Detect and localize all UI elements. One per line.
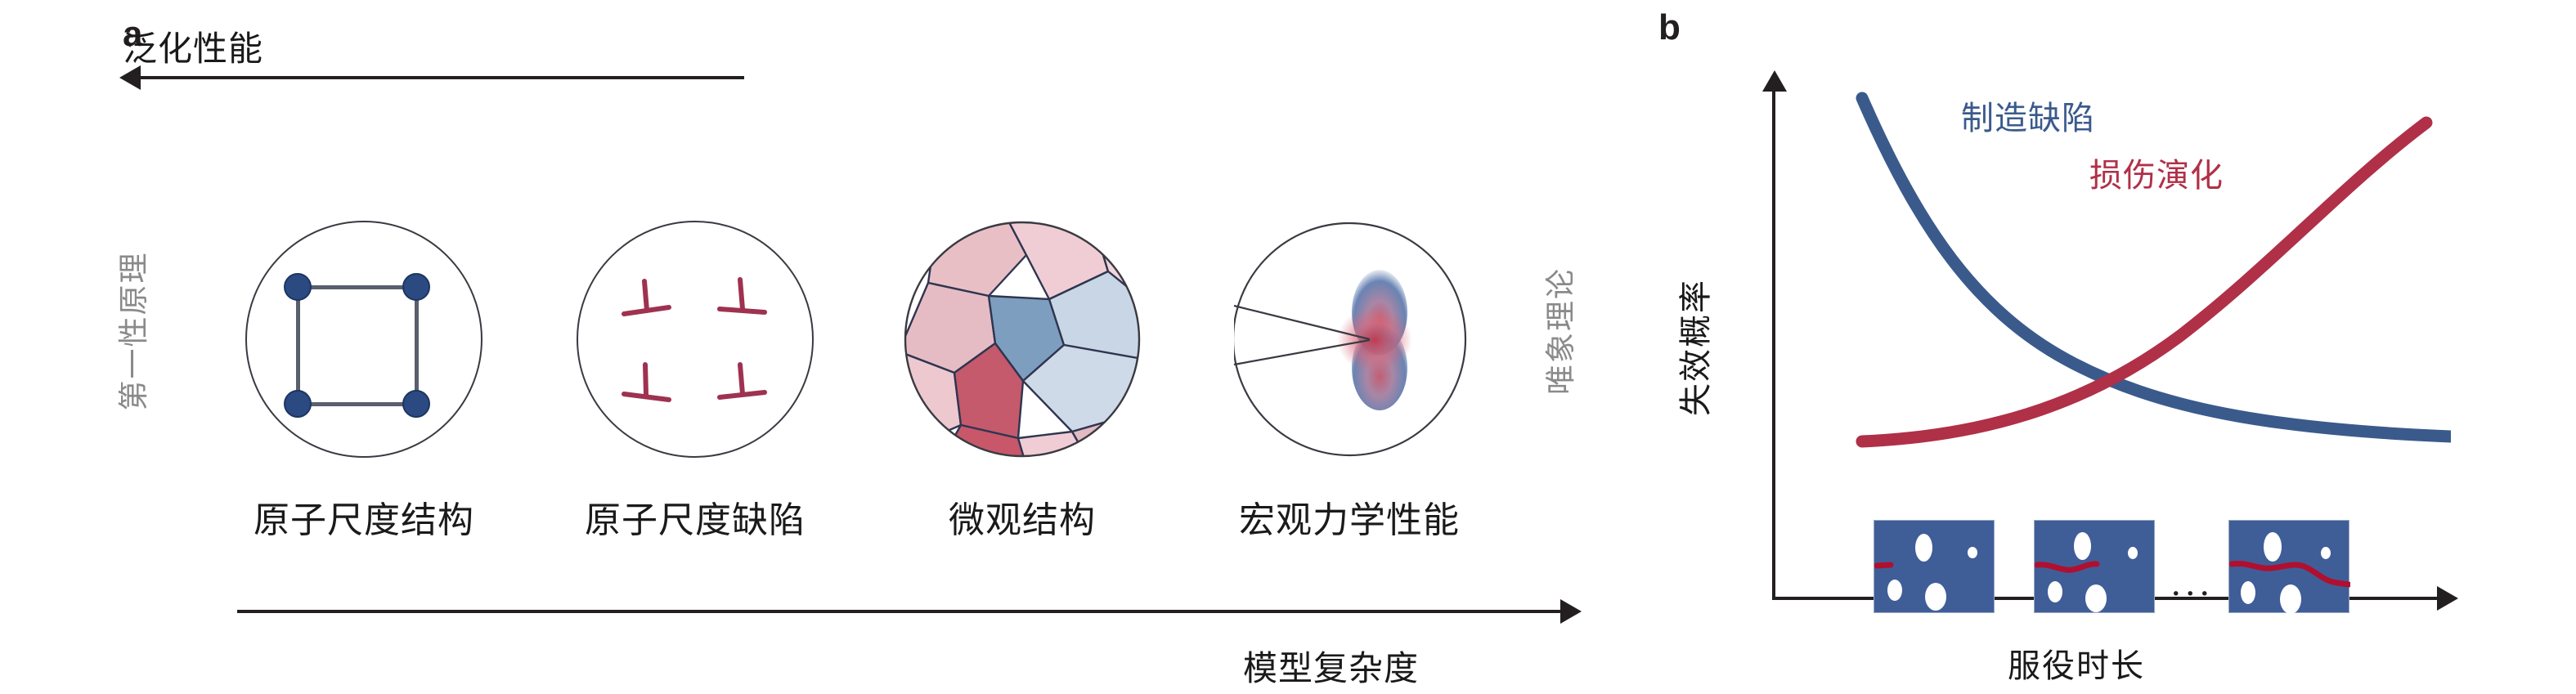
arrow-head-left-icon [119, 65, 141, 90]
late-damage-inset [2228, 520, 2349, 613]
phenomenological-theory-label: 唯象理论 [1536, 196, 1580, 466]
inset-ellipsis: ... [2171, 564, 2215, 602]
crack-path [2229, 521, 2350, 614]
panel-b-letter: b [1658, 10, 1681, 46]
grain-microstructure-icon [904, 221, 1141, 458]
panel-a: a 泛化性能 第一性原理 唯象理论 [0, 0, 1636, 694]
stage-2-dislocations [577, 221, 814, 458]
bond-bottom [296, 402, 419, 406]
stage-4-macro-mechanics [1231, 221, 1468, 458]
y-axis-label: 失效概率 [1669, 249, 1717, 446]
atom-node-br [402, 390, 430, 418]
generalization-arrow-shaft [139, 76, 744, 79]
atom-node-bl [284, 390, 312, 418]
dislocation-symbol-icon [717, 276, 768, 324]
bond-top [296, 285, 419, 289]
x-axis-label: 服役时长 [2008, 639, 2145, 687]
circle-outline [577, 221, 814, 458]
stage-1-caption: 原子尺度结构 [225, 490, 503, 543]
atom-node-tr [402, 273, 430, 301]
bond-right [415, 285, 419, 406]
figure-canvas: a 泛化性能 第一性原理 唯象理论 [0, 0, 2576, 694]
stage-4-caption: 宏观力学性能 [1210, 490, 1488, 543]
dislocation-symbol-icon [622, 361, 672, 409]
arrow-head-right-icon [1560, 599, 1582, 624]
y-axis-arrow-head-icon [1762, 70, 1787, 92]
mid-damage-inset [2034, 520, 2155, 613]
generalization-label: 泛化性能 [123, 21, 263, 71]
model-complexity-arrow-shaft [237, 610, 1562, 613]
bond-left [296, 285, 300, 406]
damage-evolution-label: 损伤演化 [2089, 149, 2224, 196]
crack-tip-stress-icon [1231, 221, 1468, 458]
dislocation-symbol-icon [622, 278, 672, 325]
stage-3-microstructure [904, 221, 1141, 458]
crack-path [2035, 521, 2156, 614]
stage-2-caption: 原子尺度缺陷 [556, 490, 834, 543]
first-principles-label: 第一性原理 [109, 196, 153, 466]
atom-node-tl [284, 273, 312, 301]
dislocation-symbol-icon [717, 361, 768, 409]
early-damage-inset [1874, 520, 1995, 613]
circle-outline [245, 221, 482, 458]
manufacturing-defect-label: 制造缺陷 [1961, 92, 2095, 139]
model-complexity-label: 模型复杂度 [1243, 641, 1419, 691]
stage-3-caption: 微观结构 [883, 490, 1161, 543]
stage-1-atomic-lattice [245, 221, 482, 458]
panel-b: b 制造缺陷 损伤演化 [1636, 0, 2576, 694]
crack-path [1874, 521, 1995, 614]
